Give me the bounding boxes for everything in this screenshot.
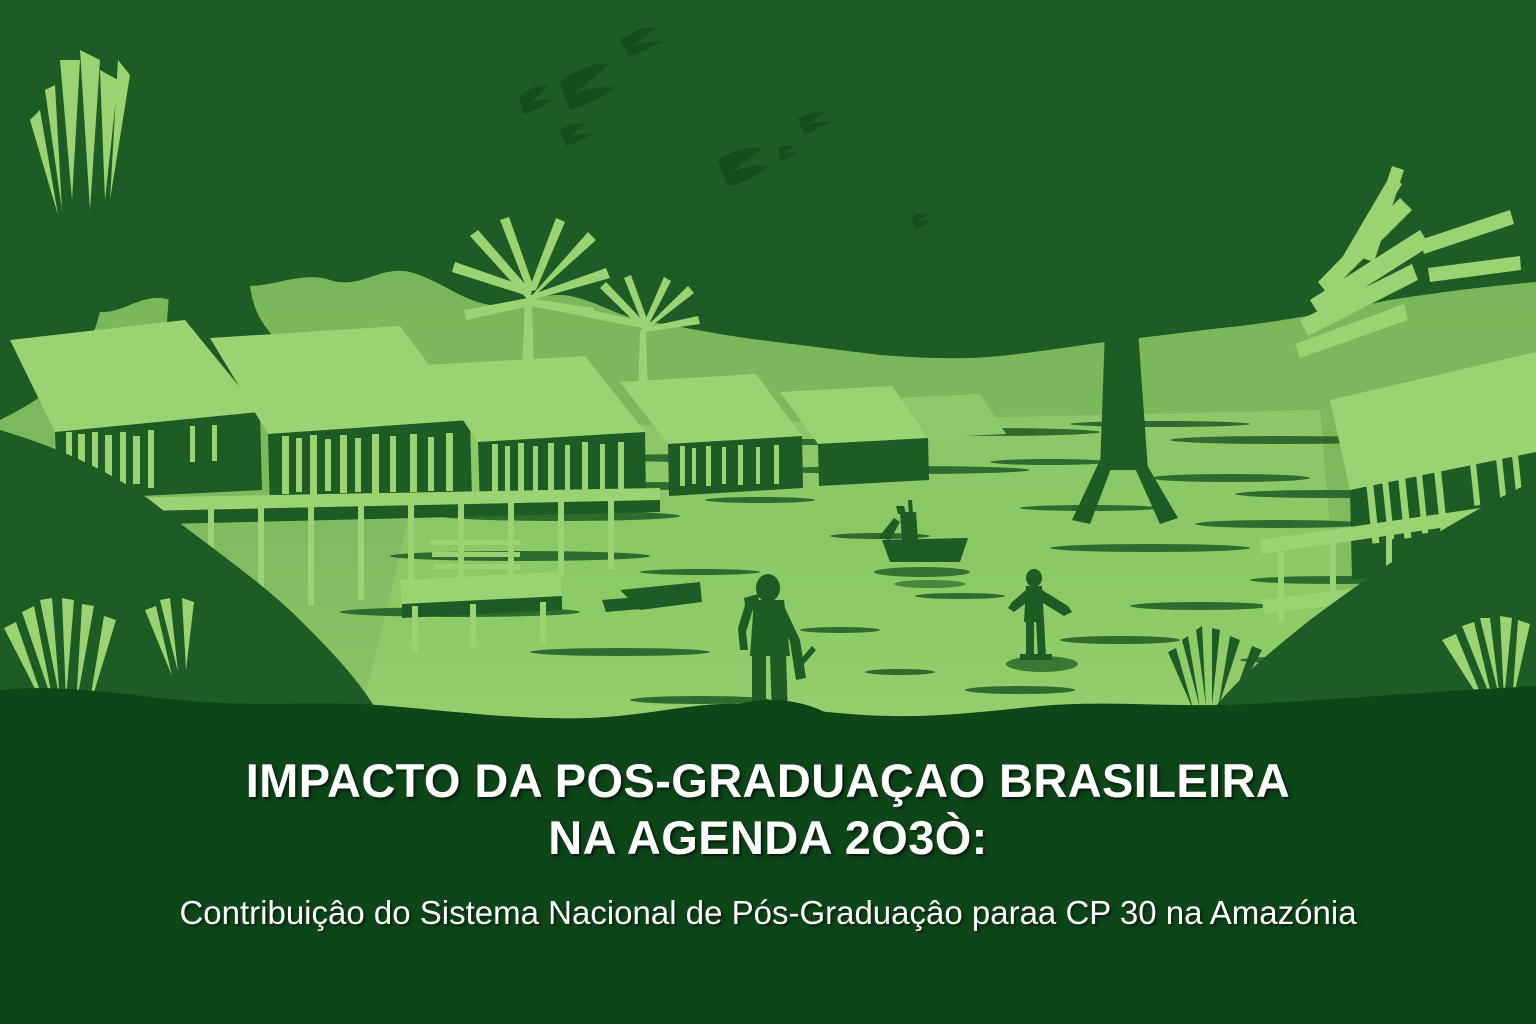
poster-subtitle: Contribuiçâo do Sistema Nacional de Pós-…	[179, 892, 1356, 933]
caption-band: IMPACTO DA POS-GRADUAÇAO BRASILEIRA NA A…	[0, 722, 1536, 1024]
house-wall	[668, 436, 803, 496]
poster-root: IMPACTO DA POS-GRADUAÇAO BRASILEIRA NA A…	[0, 0, 1536, 1024]
house-wall	[818, 438, 929, 486]
figure-midground-reflection	[1006, 656, 1078, 672]
amazon-riverside-illustration	[0, 0, 1536, 760]
poster-title-line-1: IMPACTO DA POS-GRADUAÇAO BRASILEIRA	[246, 754, 1291, 809]
poster-title-line-2: NA AGENDA 2O3Ò:	[548, 811, 988, 866]
